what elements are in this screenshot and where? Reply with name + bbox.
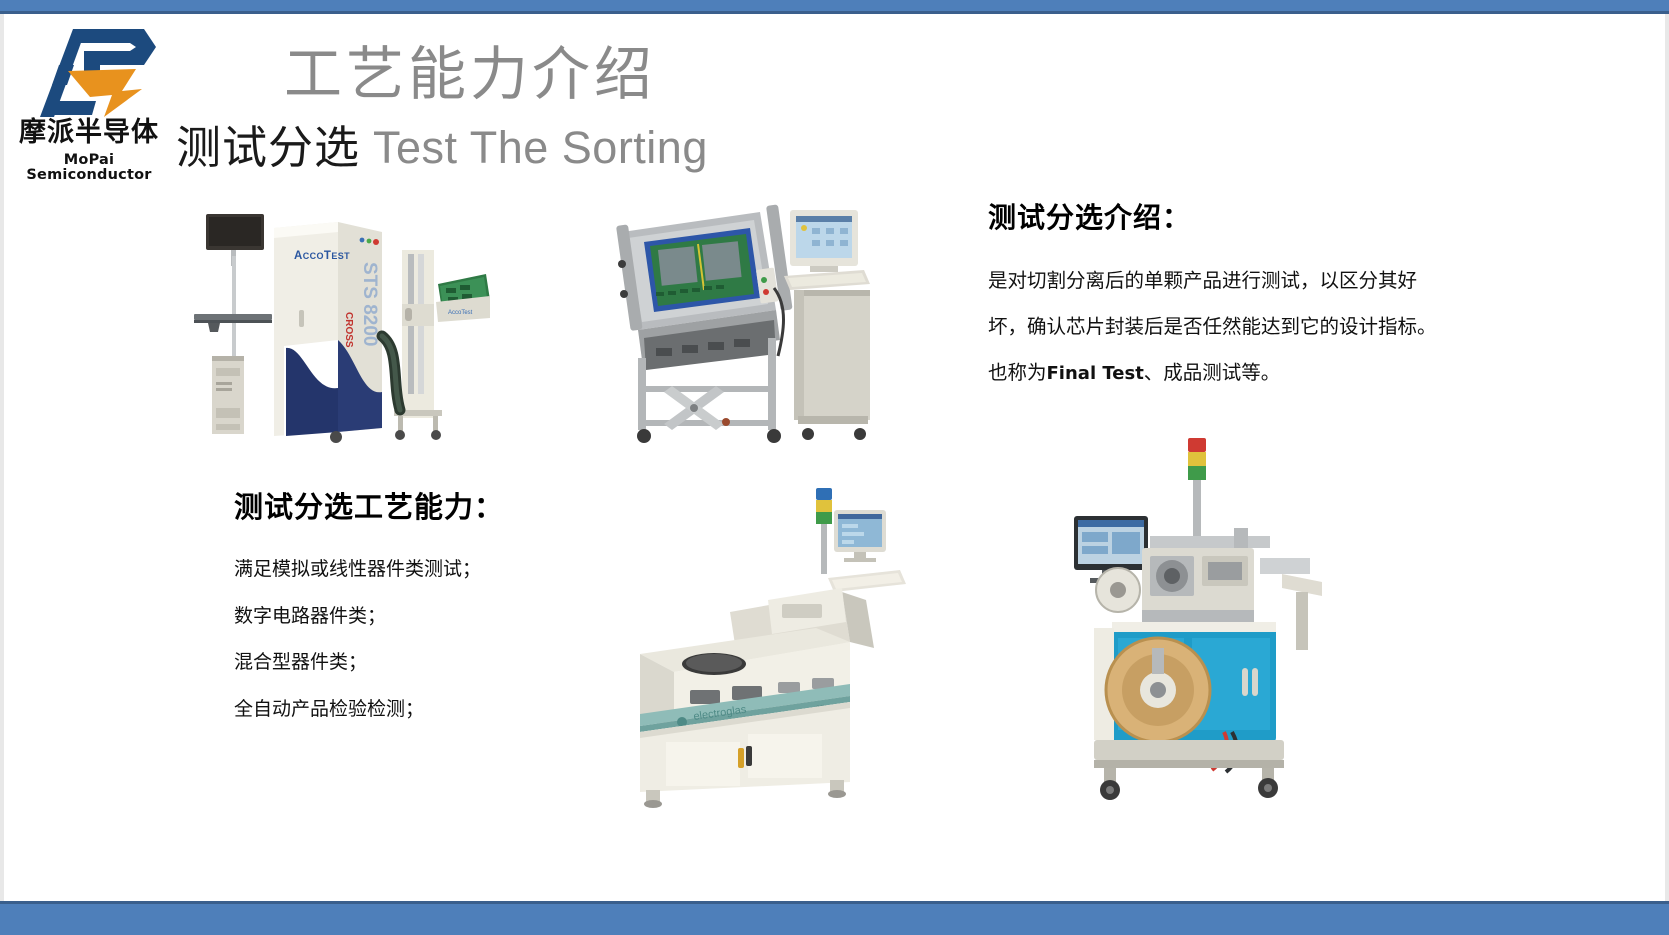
capability-item: 混合型器件类； <box>234 639 574 686</box>
photo-test-station <box>598 198 874 444</box>
photo-tape-reel-handler <box>1046 432 1346 804</box>
capability-item: 全自动产品检验检测； <box>234 686 574 733</box>
capability-item: 数字电路器件类； <box>234 593 574 640</box>
svg-text:CROSS: CROSS <box>343 312 354 348</box>
top-accent-bar <box>0 0 1669 14</box>
photo-accotest-tester: ACCOTEST STS 8200 CROSS AccoT <box>186 196 490 444</box>
intro-heading: 测试分选介绍： <box>988 196 1191 236</box>
logo-mark-icon <box>26 25 156 121</box>
capability-item: 满足模拟或线性器件类测试； <box>234 546 574 593</box>
intro-line-3-prefix: 也称为 <box>988 361 1047 384</box>
svg-text:STS 8200: STS 8200 <box>359 262 380 347</box>
capability-list: 满足模拟或线性器件类测试； 数字电路器件类； 混合型器件类； 全自动产品检验检测… <box>234 546 574 732</box>
company-logo: 摩派半导体 MoPai Semiconductor <box>14 25 164 173</box>
page-subtitle-cn: 测试分选 <box>176 121 360 174</box>
intro-line-1: 是对切割分离后的单颗产品进行测试，以区分其好 <box>988 258 1458 304</box>
page-subtitle-en: Test The Sorting <box>360 122 708 173</box>
logo-name-en: MoPai Semiconductor <box>14 153 164 182</box>
intro-line-3: 也称为Final Test、成品测试等。 <box>988 350 1458 397</box>
intro-body: 是对切割分离后的单颗产品进行测试，以区分其好 坏，确认芯片封装后是否任然能达到它… <box>988 258 1458 397</box>
svg-text:ACCOTEST: ACCOTEST <box>294 250 350 262</box>
photo-auto-prober: electroglas eg <box>620 482 950 812</box>
page-subtitle: 测试分选 Test The Sorting <box>176 124 708 171</box>
svg-text:AccoTest: AccoTest <box>448 310 473 316</box>
capability-heading: 测试分选工艺能力： <box>234 484 504 526</box>
logo-name-cn: 摩派半导体 <box>14 119 164 146</box>
intro-line-3-term: Final Test <box>1047 363 1144 384</box>
right-edge-strip <box>1665 14 1669 901</box>
left-edge-strip <box>0 14 4 901</box>
intro-line-2: 坏，确认芯片封装后是否任然能达到它的设计指标。 <box>988 304 1458 350</box>
slide-root: 摩派半导体 MoPai Semiconductor 工艺能力介绍 测试分选 Te… <box>0 0 1669 935</box>
bottom-accent-bar <box>0 901 1669 935</box>
intro-line-3-suffix: 、成品测试等。 <box>1144 361 1281 384</box>
page-title: 工艺能力介绍 <box>284 44 656 105</box>
